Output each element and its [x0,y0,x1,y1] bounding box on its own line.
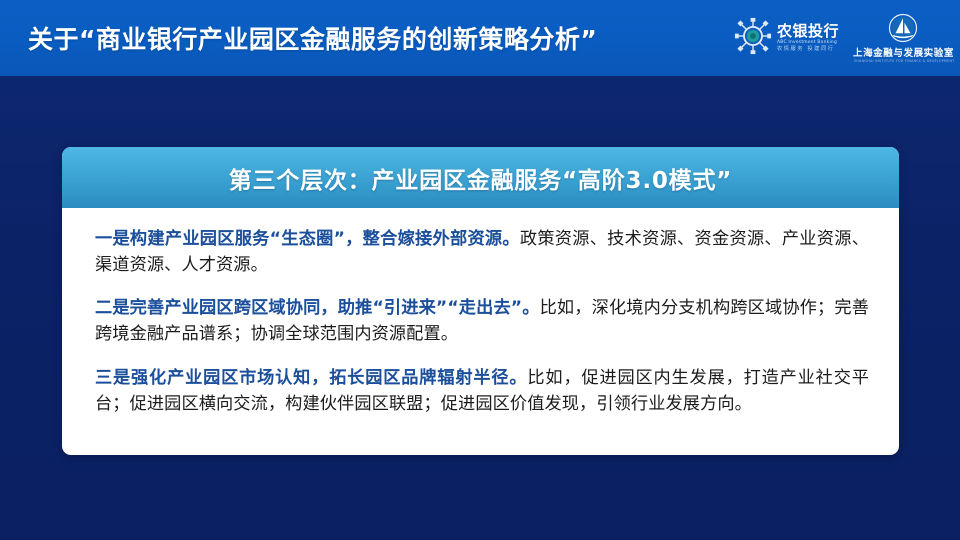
sifd-logo-text: 上海金融与发展实验室 SHANGHAI INSTITUTE FOR FINANC… [853,49,954,63]
logo-area: 农银投行 ABC Investment Banking 农情服务 投建同行 [734,0,954,76]
abc-logo-text: 农银投行 ABC Investment Banking 农情服务 投建同行 [777,24,839,53]
bullet-lead-3: 三是强化产业园区市场认知，拓长园区品牌辐射半径。 [95,368,527,388]
card-header-title: 第三个层次：产业园区金融服务“高阶3.0模式” [229,161,732,195]
bullet-lead-1: 一是构建产业园区服务“生态圈”，整合嫁接外部资源。 [95,229,520,249]
sailboat-emblem-icon [888,13,918,47]
content-card: 第三个层次：产业园区金融服务“高阶3.0模式” 一是构建产业园区服务“生态圈”，… [62,147,899,455]
bullet-lead-2: 二是完善产业园区跨区域协同，助推“引进来”“走出去”。 [95,298,540,318]
page-title: 关于“商业银行产业园区金融服务的创新策略分析” [28,20,597,56]
card-header: 第三个层次：产业园区金融服务“高阶3.0模式” [62,147,899,208]
slide-header-band: 关于“商业银行产业园区金融服务的创新策略分析” [0,0,960,76]
abc-logo-en: ABC Investment Banking [777,41,840,45]
abc-investment-banking-logo: 农银投行 ABC Investment Banking 农情服务 投建同行 [734,17,839,59]
bullet-paragraph-1: 一是构建产业园区服务“生态圈”，整合嫁接外部资源。政策资源、技术资源、资金资源、… [95,226,869,278]
sunburst-emblem-icon [734,17,772,59]
shanghai-institute-finance-development-logo: 上海金融与发展实验室 SHANGHAI INSTITUTE FOR FINANC… [853,13,954,63]
sifd-logo-en: SHANGHAI INSTITUTE FOR FINANCE & DEVELOP… [854,60,955,63]
card-body: 一是构建产业园区服务“生态圈”，整合嫁接外部资源。政策资源、技术资源、资金资源、… [62,208,899,417]
bullet-paragraph-2: 二是完善产业园区跨区域协同，助推“引进来”“走出去”。比如，深化境内分支机构跨区… [95,295,869,347]
slide-canvas: 关于“商业银行产业园区金融服务的创新策略分析” [0,0,960,540]
abc-logo-cn: 农银投行 [777,24,839,39]
abc-logo-slogan: 农情服务 投建同行 [777,47,839,52]
bullet-paragraph-3: 三是强化产业园区市场认知，拓长园区品牌辐射半径。比如，促进园区内生发展，打造产业… [95,365,869,417]
sifd-logo-cn: 上海金融与发展实验室 [853,49,954,59]
